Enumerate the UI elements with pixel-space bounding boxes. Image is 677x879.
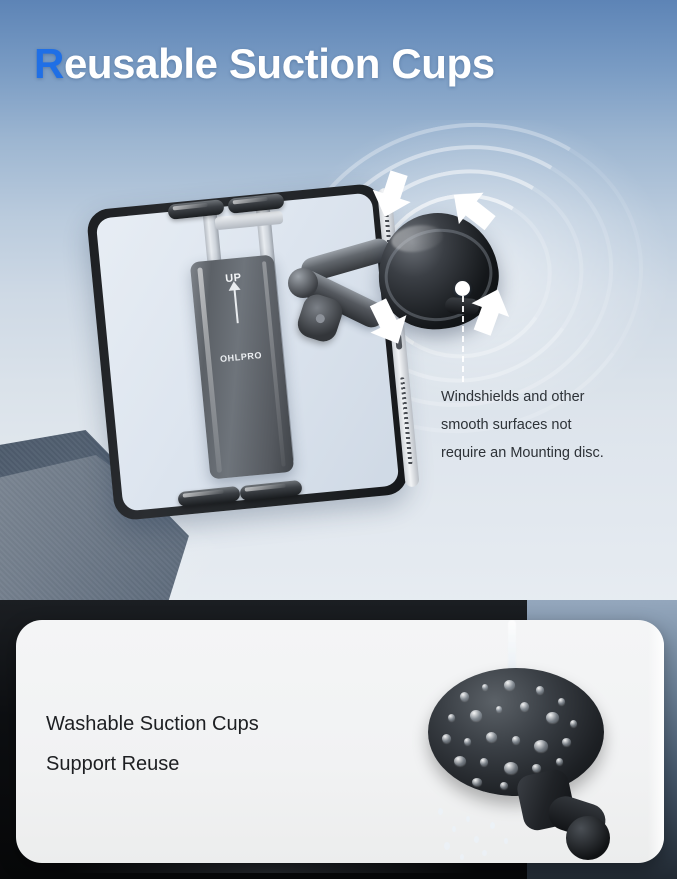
mount-ball-joint bbox=[566, 816, 610, 860]
card-headline-line-2: Support Reuse bbox=[46, 744, 346, 784]
falling-droplet bbox=[474, 836, 479, 843]
water-droplet bbox=[520, 702, 529, 711]
falling-droplet bbox=[466, 816, 470, 822]
falling-droplet bbox=[482, 850, 487, 856]
water-droplet bbox=[556, 758, 563, 765]
falling-droplet bbox=[444, 842, 450, 850]
top-scene: Reusable Suction Cups UP OHL bbox=[0, 0, 677, 640]
water-droplet bbox=[562, 738, 571, 746]
card-headline: Washable Suction Cups Support Reuse bbox=[46, 704, 346, 784]
caption-line-3: require an Mounting disc. bbox=[441, 439, 656, 467]
product-feature-image: Reusable Suction Cups UP OHL bbox=[0, 0, 677, 879]
water-droplet bbox=[512, 736, 520, 744]
water-droplet bbox=[480, 758, 488, 766]
water-droplet bbox=[536, 686, 544, 694]
water-droplet bbox=[470, 710, 482, 721]
falling-droplet bbox=[452, 826, 456, 832]
water-droplet bbox=[500, 782, 508, 789]
falling-droplet bbox=[504, 838, 508, 844]
up-arrow-icon bbox=[234, 289, 239, 323]
page-title: Reusable Suction Cups bbox=[34, 40, 495, 88]
water-droplet bbox=[546, 712, 559, 723]
water-droplet bbox=[496, 706, 502, 712]
callout-dashed-line bbox=[462, 296, 464, 382]
water-droplet bbox=[460, 692, 469, 701]
title-lead-letter: R bbox=[34, 40, 64, 87]
callout-dot-icon bbox=[455, 281, 470, 296]
water-droplet bbox=[570, 720, 577, 727]
washing-illustration bbox=[408, 640, 638, 863]
water-droplet bbox=[472, 778, 482, 786]
water-droplet bbox=[486, 732, 497, 742]
water-droplet bbox=[504, 680, 515, 690]
falling-droplet bbox=[438, 808, 443, 815]
water-droplet bbox=[534, 740, 548, 752]
water-droplet bbox=[482, 684, 488, 690]
water-droplet bbox=[448, 714, 455, 721]
brand-label: OHLPRO bbox=[199, 348, 284, 366]
feature-caption: Windshields and other smooth surfaces no… bbox=[441, 383, 656, 467]
water-droplet bbox=[464, 738, 471, 745]
card-headline-line-1: Washable Suction Cups bbox=[46, 704, 346, 744]
falling-droplet bbox=[490, 822, 495, 829]
suction-cup-disc bbox=[428, 668, 604, 796]
title-rest: eusable Suction Cups bbox=[64, 40, 495, 87]
caption-line-2: smooth surfaces not bbox=[441, 411, 656, 439]
water-droplet bbox=[532, 764, 541, 772]
water-droplet bbox=[558, 698, 565, 705]
water-droplet bbox=[504, 762, 518, 774]
caption-line-1: Windshields and other bbox=[441, 383, 656, 411]
card-right-fade bbox=[648, 620, 664, 863]
washable-feature-card: Washable Suction Cups Support Reuse bbox=[16, 620, 664, 863]
water-droplet bbox=[442, 734, 451, 743]
falling-droplet bbox=[460, 854, 464, 860]
water-droplet bbox=[454, 756, 466, 766]
